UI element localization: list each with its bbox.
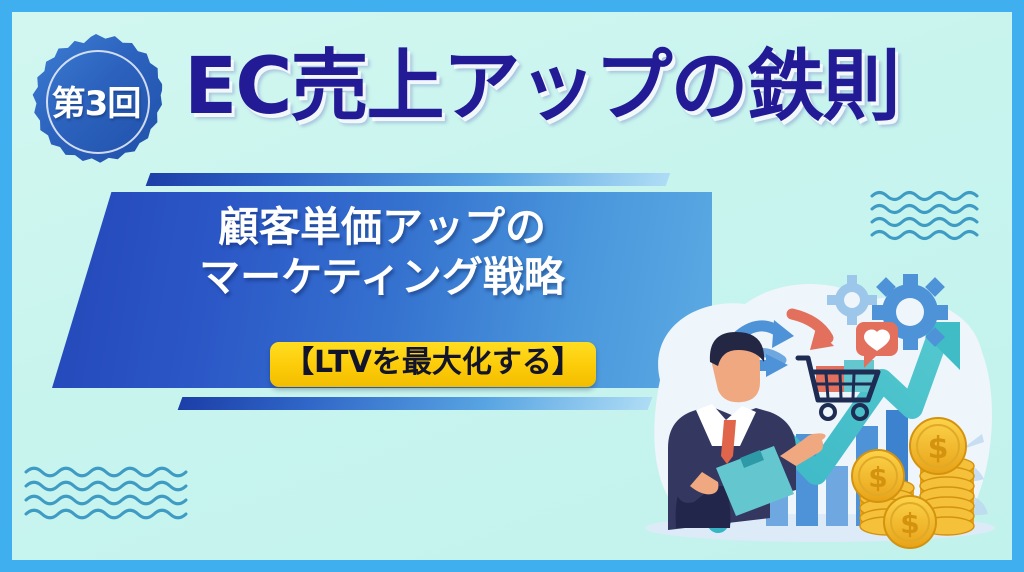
accent-bar-top <box>146 173 671 186</box>
page-title: EC売上アップの鉄則 <box>184 48 899 126</box>
subtitle-line-1: 顧客単価アップの <box>218 204 546 252</box>
coin-face-front: $ <box>884 496 936 548</box>
svg-text:$: $ <box>900 507 919 540</box>
poster-root: 第3回 EC売上アップの鉄則 顧客単価アップの マーケティング戦略 【LTVを最… <box>0 0 1024 572</box>
accent-bar-bottom <box>178 397 653 410</box>
badge-label: 第3回 <box>30 34 162 166</box>
episode-badge: 第3回 <box>30 34 162 166</box>
wave-decoration-top-right <box>870 188 990 253</box>
coin-face-left: $ <box>852 450 904 502</box>
highlight-tag-label: 【LTVを最大化する】 <box>284 346 582 381</box>
wave-decoration-bottom-left <box>24 464 214 531</box>
poster-inner-panel: 第3回 EC売上アップの鉄則 顧客単価アップの マーケティング戦略 【LTVを最… <box>12 12 1012 560</box>
svg-text:$: $ <box>928 431 949 466</box>
coin-face-top: $ <box>910 418 966 474</box>
ecommerce-growth-illustration: $ $ $ <box>620 260 1012 560</box>
subtitle-line-2: マーケティング戦略 <box>199 254 565 302</box>
svg-text:$: $ <box>868 461 887 494</box>
highlight-tag: 【LTVを最大化する】 <box>270 342 596 387</box>
